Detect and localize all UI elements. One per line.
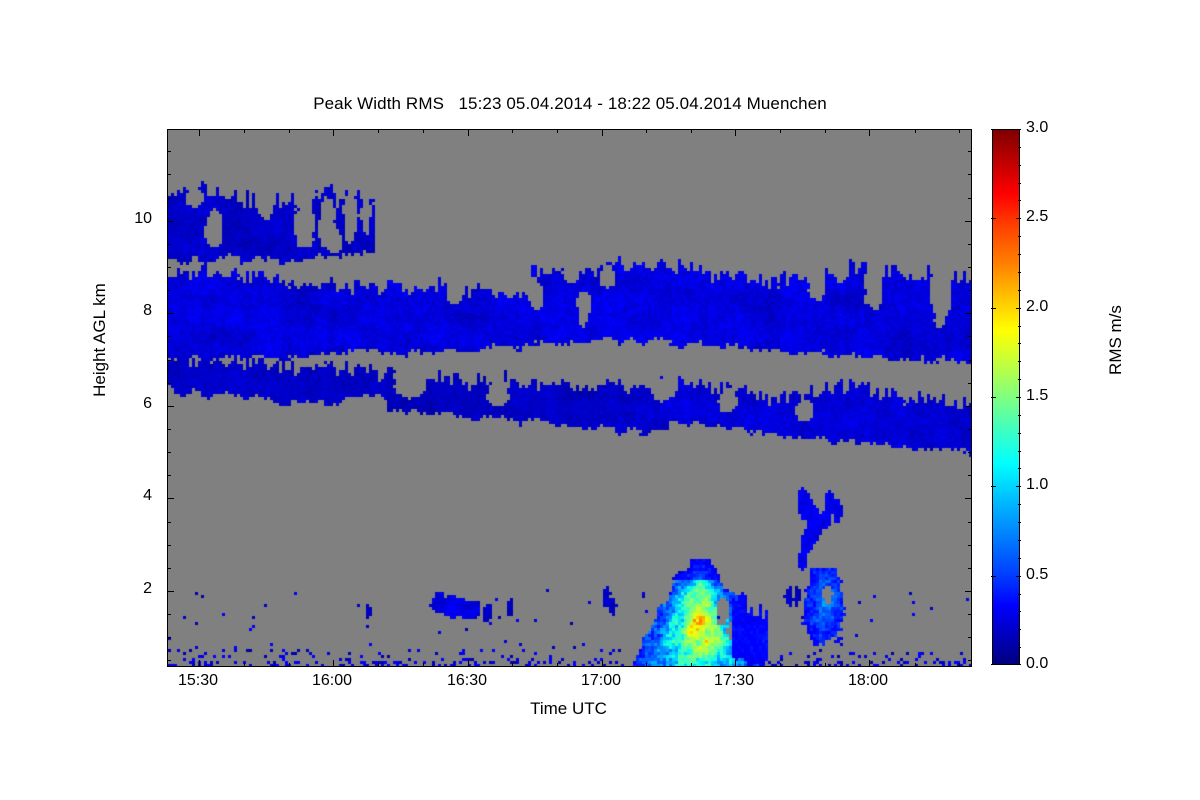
y-axis-tick-label: 8 (0, 302, 152, 320)
x-axis-minor-tick (557, 663, 558, 667)
x-axis-tick-mark (735, 129, 736, 136)
colorbar-minor-tick (1018, 468, 1021, 469)
x-axis-minor-tick (959, 129, 960, 133)
x-axis-minor-tick (780, 129, 781, 133)
y-axis-minor-tick (167, 360, 171, 361)
y-axis-tick-label: 4 (0, 487, 152, 505)
x-axis-tick-label: 18:00 (823, 672, 913, 690)
colorbar-minor-tick (1018, 486, 1021, 487)
x-axis-tick-mark (869, 129, 870, 136)
x-axis-tick-mark (602, 660, 603, 667)
y-axis-minor-tick (167, 429, 171, 430)
colorbar-minor-tick (1018, 326, 1021, 327)
heatmap-plot-area[interactable] (167, 129, 972, 667)
y-axis-minor-tick (968, 290, 972, 291)
colorbar-minor-tick (1018, 594, 1021, 595)
y-axis-minor-tick (968, 198, 972, 199)
y-axis-tick-mark (965, 591, 972, 592)
colorbar-tick-label: 0.0 (1026, 655, 1048, 673)
y-axis-tick-label: 6 (0, 395, 152, 413)
heatmap-canvas (168, 130, 971, 666)
y-axis-minor-tick (968, 151, 972, 152)
colorbar-minor-tick (1018, 361, 1021, 362)
colorbar-tick-mark (1016, 218, 1021, 219)
colorbar-tick-mark (991, 486, 996, 487)
colorbar-tick-label: 2.0 (1026, 298, 1048, 316)
colorbar-tick-label: 1.0 (1026, 476, 1048, 494)
colorbar-minor-tick (1018, 433, 1021, 434)
y-axis-tick-mark (167, 221, 174, 222)
y-axis-minor-tick (968, 545, 972, 546)
x-axis-minor-tick (780, 663, 781, 667)
x-axis-minor-tick (423, 663, 424, 667)
colorbar-minor-tick (1018, 165, 1021, 166)
x-axis-tick-mark (333, 660, 334, 667)
x-axis-tick-mark (468, 129, 469, 136)
y-axis-minor-tick (167, 545, 171, 546)
x-axis-minor-tick (289, 663, 290, 667)
colorbar-minor-tick (1018, 379, 1021, 380)
x-axis-minor-tick (244, 129, 245, 133)
colorbar-minor-tick (1018, 272, 1021, 273)
y-axis-tick-mark (965, 406, 972, 407)
x-axis-minor-tick (244, 663, 245, 667)
y-axis-tick-mark (167, 591, 174, 592)
colorbar-minor-tick (1018, 236, 1021, 237)
y-axis-tick-label: 2 (0, 580, 152, 598)
colorbar-minor-tick (1018, 611, 1021, 612)
y-axis-minor-tick (167, 198, 171, 199)
colorbar-tick-mark (991, 664, 996, 665)
y-axis-minor-tick (167, 568, 171, 569)
x-axis-tick-label: 16:00 (287, 672, 377, 690)
y-axis-minor-tick (968, 360, 972, 361)
x-axis-title: Time UTC (167, 699, 970, 719)
x-axis-minor-tick (915, 129, 916, 133)
y-axis-minor-tick (968, 614, 972, 615)
y-axis-minor-tick (968, 452, 972, 453)
colorbar-minor-tick (1018, 451, 1021, 452)
x-axis-minor-tick (378, 129, 379, 133)
colorbar-tick-mark (1016, 308, 1021, 309)
y-axis-minor-tick (968, 637, 972, 638)
y-axis-minor-tick (167, 452, 171, 453)
colorbar-tick-mark (1016, 576, 1021, 577)
colorbar-tick-label: 3.0 (1026, 119, 1048, 137)
x-axis-minor-tick (646, 129, 647, 133)
y-axis-tick-mark (167, 406, 174, 407)
colorbar-minor-tick (1018, 343, 1021, 344)
x-axis-minor-tick (512, 129, 513, 133)
page-title: Peak Width RMS 15:23 05.04.2014 - 18:22 … (0, 94, 1140, 114)
y-axis-minor-tick (968, 429, 972, 430)
x-axis-tick-mark (199, 129, 200, 136)
y-axis-minor-tick (167, 475, 171, 476)
x-axis-minor-tick (959, 663, 960, 667)
y-axis-tick-mark (965, 313, 972, 314)
x-axis-tick-mark (602, 129, 603, 136)
y-axis-minor-tick (167, 151, 171, 152)
y-axis-tick-mark (965, 221, 972, 222)
x-axis-tick-mark (735, 660, 736, 667)
colorbar-tick-mark (1016, 397, 1021, 398)
colorbar-minor-tick (1018, 522, 1021, 523)
colorbar-minor-tick (1018, 504, 1021, 505)
colorbar-minor-tick (1018, 290, 1021, 291)
y-axis-tick-mark (167, 313, 174, 314)
y-axis-minor-tick (167, 522, 171, 523)
x-axis-tick-mark (869, 660, 870, 667)
y-axis-minor-tick (968, 244, 972, 245)
x-axis-minor-tick (825, 129, 826, 133)
y-axis-tick-mark (965, 498, 972, 499)
colorbar-title: RMS m/s (1106, 240, 1126, 440)
y-axis-minor-tick (167, 267, 171, 268)
colorbar-tick-mark (991, 397, 996, 398)
y-axis-minor-tick (968, 336, 972, 337)
x-axis-minor-tick (915, 663, 916, 667)
colorbar-minor-tick (1018, 415, 1021, 416)
colorbar-tick-mark (991, 308, 996, 309)
x-axis-minor-tick (378, 663, 379, 667)
y-axis-tick-label: 10 (0, 210, 152, 228)
x-axis-minor-tick (512, 663, 513, 667)
x-axis-tick-mark (468, 660, 469, 667)
colorbar-tick-mark (1016, 664, 1021, 665)
x-axis-tick-label: 17:00 (556, 672, 646, 690)
y-axis-minor-tick (167, 383, 171, 384)
x-axis-minor-tick (646, 663, 647, 667)
colorbar-minor-tick (1018, 254, 1021, 255)
x-axis-minor-tick (691, 129, 692, 133)
y-axis-minor-tick (167, 336, 171, 337)
colorbar-tick-mark (991, 218, 996, 219)
colorbar-tick-mark (1016, 129, 1021, 130)
y-axis-minor-tick (167, 290, 171, 291)
y-axis-minor-tick (968, 568, 972, 569)
y-axis-minor-tick (167, 660, 171, 661)
y-axis-minor-tick (167, 174, 171, 175)
colorbar-minor-tick (1018, 183, 1021, 184)
colorbar-minor-tick (1018, 558, 1021, 559)
colorbar-tick-label: 0.5 (1026, 566, 1048, 584)
y-axis-minor-tick (968, 267, 972, 268)
y-axis-minor-tick (167, 637, 171, 638)
y-axis-title: Height AGL km (90, 215, 110, 465)
y-axis-tick-mark (167, 498, 174, 499)
colorbar-minor-tick (1018, 200, 1021, 201)
colorbar-tick-mark (991, 129, 996, 130)
y-axis-minor-tick (968, 174, 972, 175)
x-axis-minor-tick (691, 663, 692, 667)
y-axis-minor-tick (167, 614, 171, 615)
colorbar-minor-tick (1018, 629, 1021, 630)
x-axis-tick-mark (333, 129, 334, 136)
x-axis-tick-label: 17:30 (689, 672, 779, 690)
x-axis-tick-label: 16:30 (422, 672, 512, 690)
colorbar[interactable]: 3.02.52.01.51.00.50.0 (992, 129, 1020, 665)
y-axis-minor-tick (968, 660, 972, 661)
colorbar-minor-tick (1018, 147, 1021, 148)
x-axis-minor-tick (557, 129, 558, 133)
figure-canvas: Peak Width RMS 15:23 05.04.2014 - 18:22 … (0, 0, 1200, 800)
y-axis-minor-tick (167, 244, 171, 245)
y-axis-minor-tick (968, 475, 972, 476)
colorbar-minor-tick (1018, 540, 1021, 541)
x-axis-minor-tick (825, 663, 826, 667)
x-axis-minor-tick (289, 129, 290, 133)
colorbar-minor-tick (1018, 647, 1021, 648)
colorbar-tick-label: 2.5 (1026, 208, 1048, 226)
x-axis-tick-label: 15:30 (153, 672, 243, 690)
x-axis-minor-tick (423, 129, 424, 133)
y-axis-minor-tick (968, 522, 972, 523)
colorbar-tick-mark (991, 576, 996, 577)
x-axis-tick-mark (199, 660, 200, 667)
y-axis-minor-tick (968, 383, 972, 384)
colorbar-tick-label: 1.5 (1026, 387, 1048, 405)
